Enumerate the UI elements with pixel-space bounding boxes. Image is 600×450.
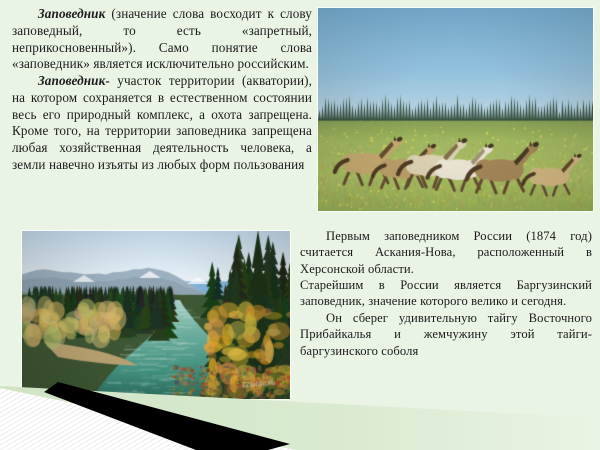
right-paragraph-1: Первым заповедником России (1874 год) сч…	[300, 228, 592, 277]
przewalski-horses-steppe-photo	[318, 8, 593, 211]
right-paragraph-2: Старейшим в России является Баргузинский…	[300, 277, 592, 310]
left-text-block: Заповедник (значение слова восходит к сл…	[12, 6, 312, 174]
slide-canvas: Заповедник (значение слова восходит к сл…	[0, 0, 600, 450]
term-zapovednik-1: Заповедник	[38, 6, 105, 21]
term-zapovednik-2: Заповедник-	[38, 73, 110, 88]
taiga-river-mountains-photo	[22, 231, 290, 399]
right-text-block: Первым заповедником России (1874 год) сч…	[300, 228, 592, 359]
left-paragraph-2: Заповедник- участок территории (акватори…	[12, 73, 312, 174]
right-paragraph-3: Он сберег удивительную тайгу Восточного …	[300, 310, 592, 359]
left-paragraph-1: Заповедник (значение слова восходит к сл…	[12, 6, 312, 73]
